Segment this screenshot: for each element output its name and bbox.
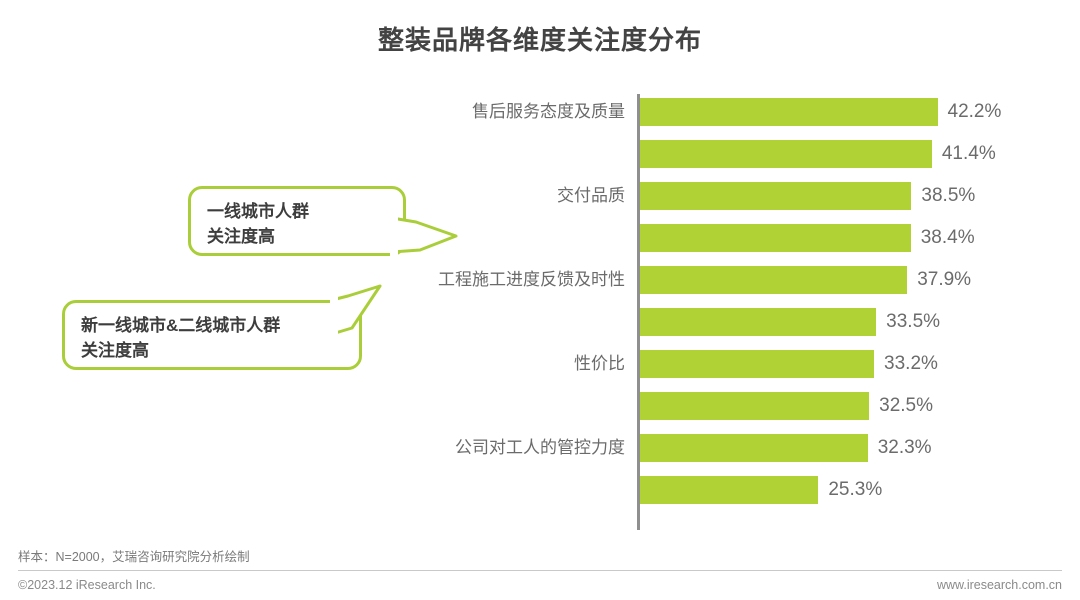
- bar-value-label: 32.3%: [878, 434, 932, 462]
- chart-bar-row: 交付品质38.5%: [0, 178, 1080, 220]
- chart-bar-row: 38.4%: [0, 220, 1080, 262]
- bar-value-label: 37.9%: [917, 266, 971, 294]
- callout-new-first-and-second-tier-cities: 新一线城市&二线城市人群 关注度高: [62, 300, 362, 370]
- chart-bar: [640, 350, 874, 378]
- chart-bar: [640, 140, 932, 168]
- bar-value-label: 38.5%: [921, 182, 975, 210]
- bar-value-label: 32.5%: [879, 392, 933, 420]
- website-link[interactable]: www.iresearch.com.cn: [937, 578, 1062, 592]
- chart-bar-row: 32.5%: [0, 388, 1080, 430]
- chart-bar: [640, 308, 876, 336]
- chart-bar: [640, 182, 911, 210]
- chart-bar-row: 41.4%: [0, 136, 1080, 178]
- chart-bar: [640, 98, 938, 126]
- chart-bar: [640, 434, 868, 462]
- chart-page: 整装品牌各维度关注度分布 售后服务态度及质量42.2%41.4%交付品质38.5…: [0, 0, 1080, 600]
- category-label: 售后服务态度及质量: [305, 98, 625, 126]
- bar-value-label: 33.5%: [886, 308, 940, 336]
- bar-value-label: 42.2%: [948, 98, 1002, 126]
- callout-first-tier-cities: 一线城市人群 关注度高: [188, 186, 406, 256]
- bar-value-label: 25.3%: [828, 476, 882, 504]
- chart-bar: [640, 224, 911, 252]
- source-note: 样本：N=2000，艾瑞咨询研究院分析绘制: [18, 546, 250, 565]
- chart-bar-row: 工程施工进度反馈及时性37.9%: [0, 262, 1080, 304]
- bar-value-label: 33.2%: [884, 350, 938, 378]
- category-label: 公司对工人的管控力度: [305, 434, 625, 462]
- footer-divider: [18, 570, 1062, 571]
- chart-bar-row: 售后服务态度及质量42.2%: [0, 94, 1080, 136]
- page-title: 整装品牌各维度关注度分布: [0, 20, 1080, 57]
- category-label: 工程施工进度反馈及时性: [305, 266, 625, 294]
- bar-value-label: 41.4%: [942, 140, 996, 168]
- chart-bar: [640, 266, 907, 294]
- chart-bar: [640, 392, 869, 420]
- chart-bar-row: 公司对工人的管控力度32.3%: [0, 430, 1080, 472]
- bar-value-label: 38.4%: [921, 224, 975, 252]
- chart-bar: [640, 476, 818, 504]
- copyright-text: ©2023.12 iResearch Inc.: [18, 578, 156, 592]
- chart-bar-row: 25.3%: [0, 472, 1080, 514]
